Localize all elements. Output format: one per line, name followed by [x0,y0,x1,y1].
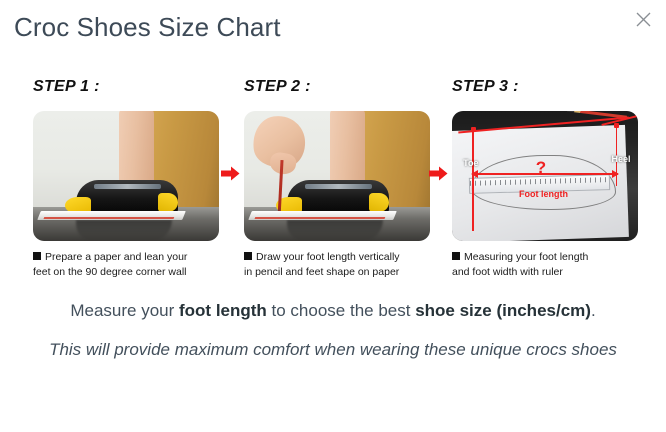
step-2-caption-line1: Draw your foot length vertically [256,251,400,263]
step-3-caption-line2: and foot width with ruler [452,266,563,278]
step-2-caption-line2: in pencil and feet shape on paper [244,266,399,278]
step-1: STEP 1 : Prepare a pa [33,78,219,280]
step-1-photo [33,111,219,241]
instructions-line-2: This will provide maximum comfort when w… [0,336,666,364]
bullet-icon [33,252,41,260]
step-3-label: STEP 3 : [452,78,638,100]
close-button[interactable] [630,6,656,32]
foot-length-label: Foot length [519,189,568,199]
instructions-copy: Measure your foot length to choose the b… [0,298,666,364]
step-3-caption: Measuring your foot length and foot widt… [452,250,644,280]
step-2-photo [244,111,430,241]
heel-label: Heel [612,154,631,164]
copy-bold-foot-length: foot length [179,301,267,320]
step-2-caption: Draw your foot length vertically in penc… [244,250,436,280]
copy-bold-shoe-size: shoe size (inches/cm) [415,301,591,320]
toe-label: Toe [463,158,478,168]
step-1-caption: Prepare a paper and lean your feet on th… [33,250,225,280]
page-title: Croc Shoes Size Chart [14,12,281,43]
step-1-caption-line1: Prepare a paper and lean your [45,251,187,263]
copy-part-3: . [591,301,596,320]
step-3-caption-line1: Measuring your foot length [464,251,588,263]
bullet-icon [452,252,460,260]
step-2-label: STEP 2 : [244,78,430,100]
instructions-line-1: Measure your foot length to choose the b… [0,298,666,324]
step-1-caption-line2: feet on the 90 degree corner wall [33,266,187,278]
step-3-photo: Toe Heel ? Foot length [452,111,638,241]
question-mark-label: ? [536,158,546,178]
bullet-icon [244,252,252,260]
step-2: STEP 2 : [244,78,430,280]
copy-part-1: Measure your [70,301,179,320]
size-chart-modal: Croc Shoes Size Chart STEP 1 : [0,0,666,432]
steps-row: STEP 1 : Prepare a pa [0,78,666,292]
step-3: STEP 3 : Toe Heel ? Foot length [452,78,638,280]
step-1-label: STEP 1 : [33,78,219,100]
copy-part-2: to choose the best [267,301,415,320]
close-icon [636,12,651,27]
